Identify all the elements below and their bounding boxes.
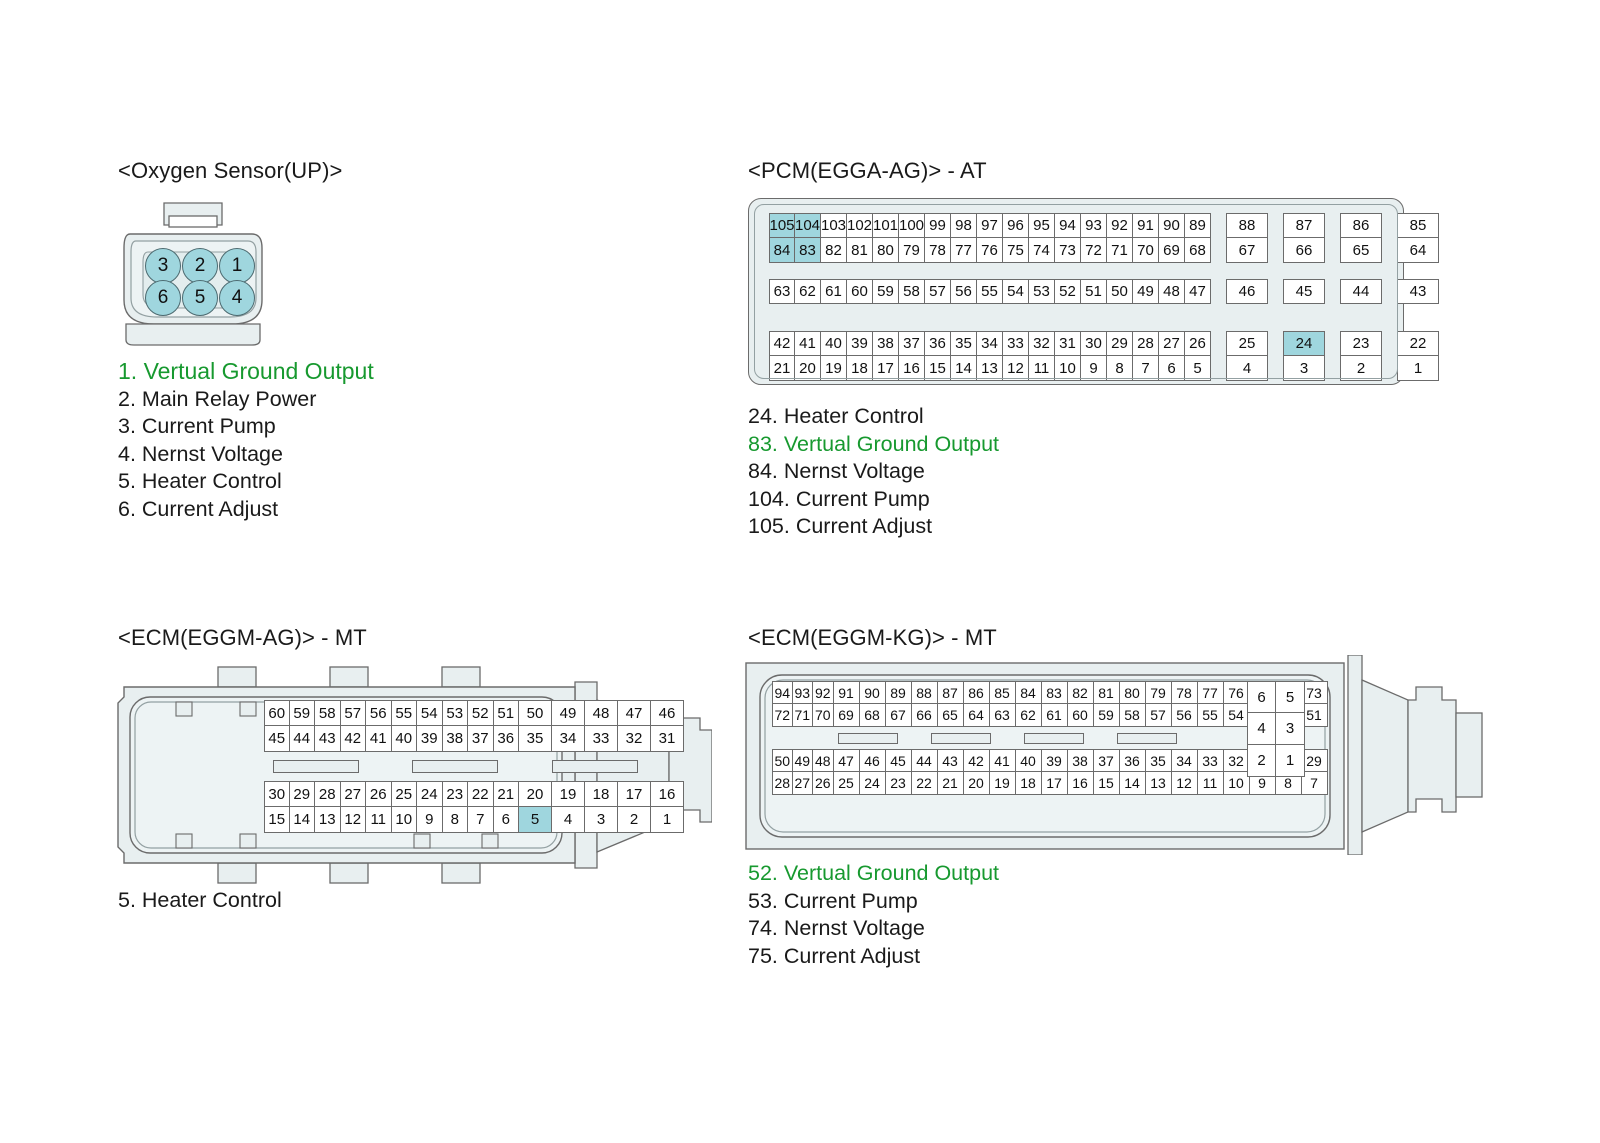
ecm-kg-pin-32[interactable]: 32 xyxy=(1224,749,1250,772)
oxy-pin-2[interactable]: 2 xyxy=(182,248,218,284)
pcm-pin-6[interactable]: 6 xyxy=(1159,356,1185,381)
pin-column: 5237 xyxy=(468,700,494,752)
ecm-kg-pin-83[interactable]: 83 xyxy=(1042,681,1068,704)
pcm-pin-27[interactable]: 27 xyxy=(1159,331,1185,356)
ecm-ag-upper-rows: 6045594458435742564155405439533852375136… xyxy=(264,700,684,752)
ecm-kg-pin-14[interactable]: 14 xyxy=(1120,772,1146,795)
pcm-pin-91[interactable]: 91 xyxy=(1133,213,1159,238)
pcm-pin-11[interactable]: 11 xyxy=(1029,356,1055,381)
pcm-pin-33[interactable]: 33 xyxy=(1003,331,1029,356)
ecm-ag-pin-54[interactable]: 54 xyxy=(417,700,443,726)
ecm-ag-pin-41[interactable]: 41 xyxy=(366,726,392,752)
ecm-ag-pin-26[interactable]: 26 xyxy=(366,781,392,807)
pcm-pin-79[interactable]: 79 xyxy=(899,238,925,263)
legend-row-0: 1. Vertual Ground Output xyxy=(118,358,374,386)
pcm-pin-45[interactable]: 45 xyxy=(1283,279,1325,304)
ecm-kg-pin-79[interactable]: 79 xyxy=(1146,681,1172,704)
pcm-pin-54[interactable]: 54 xyxy=(1003,279,1029,304)
oxy-pin-4[interactable]: 4 xyxy=(219,280,255,316)
pcm-pin-61[interactable]: 61 xyxy=(821,279,847,304)
ecm-kg-pin-11[interactable]: 11 xyxy=(1198,772,1224,795)
pcm-pin-4[interactable]: 4 xyxy=(1226,356,1268,381)
pcm-pin-69[interactable]: 69 xyxy=(1159,238,1185,263)
ecm-ag-pin-15[interactable]: 15 xyxy=(264,807,290,833)
pcm-pin-99[interactable]: 99 xyxy=(925,213,951,238)
ecm-ag-pin-39[interactable]: 39 xyxy=(417,726,443,752)
pcm-pin-80[interactable]: 80 xyxy=(873,238,899,263)
pin-column: 243 xyxy=(1283,331,1325,381)
pcm-pin-104[interactable]: 104 xyxy=(795,213,821,238)
pcm-pin-1[interactable]: 1 xyxy=(1397,356,1439,381)
pcm-pin-19[interactable]: 19 xyxy=(821,356,847,381)
ecm-ag-pin-43[interactable]: 43 xyxy=(315,726,341,752)
pcm-pin-3[interactable]: 3 xyxy=(1283,356,1325,381)
pcm-pin-64[interactable]: 64 xyxy=(1397,238,1439,263)
ecm-kg-pin-84[interactable]: 84 xyxy=(1016,681,1042,704)
ecm-ag-pin-3[interactable]: 3 xyxy=(585,807,618,833)
ecm-ag-pin-22[interactable]: 22 xyxy=(468,781,494,807)
pcm-pin-43[interactable]: 43 xyxy=(1397,279,1439,304)
ecm-kg-pin-88[interactable]: 88 xyxy=(912,681,938,704)
ecm-ag-pin-46[interactable]: 46 xyxy=(651,700,684,726)
pcm-pin-78[interactable]: 78 xyxy=(925,238,951,263)
ecm-kg-pin-62[interactable]: 62 xyxy=(1016,704,1042,727)
ecm-kg-pin-87[interactable]: 87 xyxy=(938,681,964,704)
pcm-pin-53[interactable]: 53 xyxy=(1029,279,1055,304)
ecm-kg-pin-61[interactable]: 61 xyxy=(1042,704,1068,727)
ecm-ag-pin-48[interactable]: 48 xyxy=(585,700,618,726)
ecm-kg-pin-26[interactable]: 26 xyxy=(813,772,834,795)
pcm-pin-65[interactable]: 65 xyxy=(1340,238,1382,263)
ecm-ag-pin-50[interactable]: 50 xyxy=(519,700,552,726)
oxy-pin-3[interactable]: 3 xyxy=(145,248,181,284)
ecm-ag-pin-45[interactable]: 45 xyxy=(264,726,290,752)
ecm-kg-pin-33[interactable]: 33 xyxy=(1198,749,1224,772)
ecm-kg-pin-43[interactable]: 43 xyxy=(938,749,964,772)
pcm-pin-51[interactable]: 51 xyxy=(1081,279,1107,304)
pcm-pin-82[interactable]: 82 xyxy=(821,238,847,263)
pcm-pin-92[interactable]: 92 xyxy=(1107,213,1133,238)
ecm-ag-pin-16[interactable]: 16 xyxy=(651,781,684,807)
ecm-ag-pin-12[interactable]: 12 xyxy=(341,807,367,833)
pin-column: 3413 xyxy=(977,331,1003,381)
pcm-pin-74[interactable]: 74 xyxy=(1029,238,1055,263)
ecm-kg-pin-21[interactable]: 21 xyxy=(938,772,964,795)
ecm-kg-pin-27[interactable]: 27 xyxy=(793,772,814,795)
ecm-ag-pin-1[interactable]: 1 xyxy=(651,807,684,833)
ecm-kg-side-pin-5[interactable]: 5 xyxy=(1276,681,1305,713)
ecm-kg-pin-28[interactable]: 28 xyxy=(772,772,793,795)
ecm-kg-side-pin-2[interactable]: 2 xyxy=(1247,745,1276,777)
pcm-pin-96[interactable]: 96 xyxy=(1003,213,1029,238)
pcm-pin-49[interactable]: 49 xyxy=(1133,279,1159,304)
pcm-pin-68[interactable]: 68 xyxy=(1185,238,1211,263)
pin-column: 10079 xyxy=(899,213,925,263)
pcm-pin-44[interactable]: 44 xyxy=(1340,279,1382,304)
ecm-kg-pin-73[interactable]: 73 xyxy=(1302,681,1328,704)
pcm-pin-88[interactable]: 88 xyxy=(1226,213,1268,238)
ecm-kg-pin-86[interactable]: 86 xyxy=(964,681,990,704)
pcm-pin-32[interactable]: 32 xyxy=(1029,331,1055,356)
ecm-ag-pin-42[interactable]: 42 xyxy=(341,726,367,752)
pin-column: 276 xyxy=(1159,331,1185,381)
pcm-pin-38[interactable]: 38 xyxy=(873,331,899,356)
pcm-pin-42[interactable]: 42 xyxy=(769,331,795,356)
pcm-pin-37[interactable]: 37 xyxy=(899,331,925,356)
pcm-pin-7[interactable]: 7 xyxy=(1133,356,1159,381)
pcm-pin-73[interactable]: 73 xyxy=(1055,238,1081,263)
ecm-kg-pin-12[interactable]: 12 xyxy=(1172,772,1198,795)
pin-column: 8563 xyxy=(990,681,1016,727)
legend-row-1: 53. Current Pump xyxy=(748,888,999,916)
pin-column: 4732 xyxy=(618,700,651,752)
ecm-ag-pin-44[interactable]: 44 xyxy=(290,726,316,752)
ecm-kg-pin-68[interactable]: 68 xyxy=(860,704,886,727)
side-pin-row: 21 xyxy=(1247,745,1305,777)
ecm-kg-pin-66[interactable]: 66 xyxy=(912,704,938,727)
ecm-ag-pin-53[interactable]: 53 xyxy=(443,700,469,726)
ecm-kg-pin-42[interactable]: 42 xyxy=(964,749,990,772)
ecm-kg-pin-71[interactable]: 71 xyxy=(793,704,814,727)
pcm-pin-34[interactable]: 34 xyxy=(977,331,1003,356)
pcm-pin-10[interactable]: 10 xyxy=(1055,356,1081,381)
ecm-ag-pin-29[interactable]: 29 xyxy=(290,781,316,807)
ecm-ag-pin-5[interactable]: 5 xyxy=(519,807,552,833)
ecm-ag-pin-21[interactable]: 21 xyxy=(494,781,520,807)
ecm-ag-pin-19[interactable]: 19 xyxy=(552,781,585,807)
ecm-ag-pin-51[interactable]: 51 xyxy=(494,700,520,726)
pcm-pin-71[interactable]: 71 xyxy=(1107,238,1133,263)
pcm-pin-23[interactable]: 23 xyxy=(1340,331,1382,356)
pcm-pin-102[interactable]: 102 xyxy=(847,213,873,238)
pcm-pin-55[interactable]: 55 xyxy=(977,279,1003,304)
ecm-kg-pin-46[interactable]: 46 xyxy=(860,749,886,772)
ecm-ag-pin-9[interactable]: 9 xyxy=(417,807,443,833)
ecm-kg-pin-39[interactable]: 39 xyxy=(1042,749,1068,772)
ecm-kg-pin-55[interactable]: 55 xyxy=(1198,704,1224,727)
ecm-kg-pin-25[interactable]: 25 xyxy=(834,772,860,795)
pcm-pin-15[interactable]: 15 xyxy=(925,356,951,381)
ecm-kg-pin-10[interactable]: 10 xyxy=(1224,772,1250,795)
ecm-ag-pin-31[interactable]: 31 xyxy=(651,726,684,752)
ecm-kg-pin-82[interactable]: 82 xyxy=(1068,681,1094,704)
ecm-kg-pin-41[interactable]: 41 xyxy=(990,749,1016,772)
ecm-kg-pin-78[interactable]: 78 xyxy=(1172,681,1198,704)
pin-column: 9473 xyxy=(1055,213,1081,263)
pin-column: 52 xyxy=(1055,279,1081,304)
ecm-kg-pin-58[interactable]: 58 xyxy=(1120,704,1146,727)
ecm-kg-pin-17[interactable]: 17 xyxy=(1042,772,1068,795)
pcm-pin-87[interactable]: 87 xyxy=(1283,213,1325,238)
ecm-kg-pin-40[interactable]: 40 xyxy=(1016,749,1042,772)
ecm-kg-side-pin-4[interactable]: 4 xyxy=(1247,713,1276,745)
ecm-ag-pin-20[interactable]: 20 xyxy=(519,781,552,807)
ecm-ag-pin-13[interactable]: 13 xyxy=(315,807,341,833)
ecm-kg-pin-63[interactable]: 63 xyxy=(990,704,1016,727)
pcm-pin-103[interactable]: 103 xyxy=(821,213,847,238)
ecm-kg-pin-24[interactable]: 24 xyxy=(860,772,886,795)
pcm-pin-21[interactable]: 21 xyxy=(769,356,795,381)
pcm-pin-95[interactable]: 95 xyxy=(1029,213,1055,238)
ecm-kg-pin-29[interactable]: 29 xyxy=(1302,749,1328,772)
pin-column: 8260 xyxy=(1068,681,1094,727)
ecm-kg-pin-35[interactable]: 35 xyxy=(1146,749,1172,772)
pcm-pin-20[interactable]: 20 xyxy=(795,356,821,381)
ecm-ag-pin-59[interactable]: 59 xyxy=(290,700,316,726)
pcm-pin-36[interactable]: 36 xyxy=(925,331,951,356)
pcm-pin-16[interactable]: 16 xyxy=(899,356,925,381)
pin-column: 3514 xyxy=(951,331,977,381)
pcm-pin-84[interactable]: 84 xyxy=(769,238,795,263)
pcm-pin-39[interactable]: 39 xyxy=(847,331,873,356)
ecm-ag-pin-23[interactable]: 23 xyxy=(443,781,469,807)
ecm-kg-pin-19[interactable]: 19 xyxy=(990,772,1016,795)
ecm-kg-side-pin-3[interactable]: 3 xyxy=(1276,713,1305,745)
ecm-kg-pin-60[interactable]: 60 xyxy=(1068,704,1094,727)
ecm-ag-pin-8[interactable]: 8 xyxy=(443,807,469,833)
pin-column: 7351 xyxy=(1302,681,1328,727)
ecm-ag-pin-28[interactable]: 28 xyxy=(315,781,341,807)
oxygen-sensor-legend: 1. Vertual Ground Output2. Main Relay Po… xyxy=(118,358,374,523)
pin-column: 4624 xyxy=(860,749,886,795)
ecm-kg-pin-7[interactable]: 7 xyxy=(1302,772,1328,795)
ecm-kg-pin-47[interactable]: 47 xyxy=(834,749,860,772)
pcm-pin-8[interactable]: 8 xyxy=(1107,356,1133,381)
pcm-pin-52[interactable]: 52 xyxy=(1055,279,1081,304)
pcm-pin-59[interactable]: 59 xyxy=(873,279,899,304)
ecm-kg-pin-36[interactable]: 36 xyxy=(1120,749,1146,772)
ecm-ag-pin-10[interactable]: 10 xyxy=(392,807,418,833)
ecm-kg-pin-80[interactable]: 80 xyxy=(1120,681,1146,704)
ecm-kg-pin-65[interactable]: 65 xyxy=(938,704,964,727)
pcm-pin-18[interactable]: 18 xyxy=(847,356,873,381)
pcm-pin-98[interactable]: 98 xyxy=(951,213,977,238)
pcm-pin-40[interactable]: 40 xyxy=(821,331,847,356)
ecm-kg-pin-72[interactable]: 72 xyxy=(772,704,793,727)
pcm-pin-46[interactable]: 46 xyxy=(1226,279,1268,304)
pcm-pin-22[interactable]: 22 xyxy=(1397,331,1439,356)
ecm-kg-panel: <ECM(EGGM-KG)> - MT 94729371927091699068… xyxy=(748,625,1488,970)
ecm-kg-pin-20[interactable]: 20 xyxy=(964,772,990,795)
pin-column: 3817 xyxy=(873,331,899,381)
ecm-ag-pin-36[interactable]: 36 xyxy=(494,726,520,752)
pcm-pin-5[interactable]: 5 xyxy=(1185,356,1211,381)
pcm-pin-77[interactable]: 77 xyxy=(951,238,977,263)
ecm-ag-pin-34[interactable]: 34 xyxy=(552,726,585,752)
ecm-ag-pin-25[interactable]: 25 xyxy=(392,781,418,807)
legend-row-0: 5. Heater Control xyxy=(118,887,282,915)
ecm-kg-pin-48[interactable]: 48 xyxy=(813,749,834,772)
pcm-pin-35[interactable]: 35 xyxy=(951,331,977,356)
pcm-pin-56[interactable]: 56 xyxy=(951,279,977,304)
ecm-kg-side-pin-6[interactable]: 6 xyxy=(1247,681,1276,713)
ecm-ag-pin-24[interactable]: 24 xyxy=(417,781,443,807)
pcm-pin-50[interactable]: 50 xyxy=(1107,279,1133,304)
ecm-kg-pin-45[interactable]: 45 xyxy=(886,749,912,772)
pcm-pin-72[interactable]: 72 xyxy=(1081,238,1107,263)
pin-column: 2510 xyxy=(392,781,418,833)
ecm-ag-pin-49[interactable]: 49 xyxy=(552,700,585,726)
pcm-pin-63[interactable]: 63 xyxy=(769,279,795,304)
legend-row-3: 104. Current Pump xyxy=(748,486,999,514)
ecm-ag-pin-27[interactable]: 27 xyxy=(341,781,367,807)
oxy-pin-6[interactable]: 6 xyxy=(145,280,181,316)
legend-row-2: 84. Nernst Voltage xyxy=(748,458,999,486)
ecm-ag-pin-47[interactable]: 47 xyxy=(618,700,651,726)
pcm-pin-86[interactable]: 86 xyxy=(1340,213,1382,238)
pin-column: 9978 xyxy=(925,213,951,263)
pcm-pin-67[interactable]: 67 xyxy=(1226,238,1268,263)
legend-row-4: 5. Heater Control xyxy=(118,468,374,496)
ecm-ag-pin-11[interactable]: 11 xyxy=(366,807,392,833)
pin-column: 54 xyxy=(1003,279,1029,304)
ecm-kg-side-pin-1[interactable]: 1 xyxy=(1276,745,1305,777)
pcm-column-gap xyxy=(1382,213,1397,263)
ecm-ag-pin-38[interactable]: 38 xyxy=(443,726,469,752)
ecm-kg-pin-18[interactable]: 18 xyxy=(1016,772,1042,795)
ecm-kg-pin-56[interactable]: 56 xyxy=(1172,704,1198,727)
pin-column: 8866 xyxy=(912,681,938,727)
pcm-pin-76[interactable]: 76 xyxy=(977,238,1003,263)
ecm-ag-pin-55[interactable]: 55 xyxy=(392,700,418,726)
pcm-pin-75[interactable]: 75 xyxy=(1003,238,1029,263)
pcm-pin-90[interactable]: 90 xyxy=(1159,213,1185,238)
ecm-kg-pin-22[interactable]: 22 xyxy=(912,772,938,795)
ecm-ag-pin-18[interactable]: 18 xyxy=(585,781,618,807)
pin-column: 60 xyxy=(847,279,873,304)
ecm-kg-pin-49[interactable]: 49 xyxy=(793,749,814,772)
ecm-ag-pin-17[interactable]: 17 xyxy=(618,781,651,807)
pcm-pin-57[interactable]: 57 xyxy=(925,279,951,304)
ecm-kg-pin-16[interactable]: 16 xyxy=(1068,772,1094,795)
ecm-ag-pin-2[interactable]: 2 xyxy=(618,807,651,833)
pcm-pin-17[interactable]: 17 xyxy=(873,356,899,381)
ecm-kg-pin-76[interactable]: 76 xyxy=(1224,681,1250,704)
ecm-kg-pin-69[interactable]: 69 xyxy=(834,704,860,727)
pcm-pin-47[interactable]: 47 xyxy=(1185,279,1211,304)
pin-column: 9574 xyxy=(1029,213,1055,263)
pcm-pin-24[interactable]: 24 xyxy=(1283,331,1325,356)
pin-column: 5338 xyxy=(443,700,469,752)
pcm-pin-12[interactable]: 12 xyxy=(1003,356,1029,381)
ecm-ag-pin-14[interactable]: 14 xyxy=(290,807,316,833)
legend-row-4: 105. Current Adjust xyxy=(748,513,999,541)
pcm-pin-13[interactable]: 13 xyxy=(977,356,1003,381)
pcm-pin-70[interactable]: 70 xyxy=(1133,238,1159,263)
oxy-pin-5[interactable]: 5 xyxy=(182,280,218,316)
pin-column: 9371 xyxy=(793,681,814,727)
pcm-pin-97[interactable]: 97 xyxy=(977,213,1003,238)
ecm-ag-pin-30[interactable]: 30 xyxy=(264,781,290,807)
ecm-ag-pin-40[interactable]: 40 xyxy=(392,726,418,752)
pcm-group-top: 1058410483103821028110180100799978987797… xyxy=(769,213,1439,263)
ecm-kg-pin-81[interactable]: 81 xyxy=(1094,681,1120,704)
pin-column: 216 xyxy=(494,781,520,833)
ecm-ag-lower-rows: 3015291428132712261125102492382272162051… xyxy=(264,781,684,833)
ecm-ag-pin-57[interactable]: 57 xyxy=(341,700,367,726)
pin-column: 4523 xyxy=(886,749,912,795)
ecm-ag-pin-4[interactable]: 4 xyxy=(552,807,585,833)
pcm-pin-48[interactable]: 48 xyxy=(1159,279,1185,304)
ecm-kg-pin-23[interactable]: 23 xyxy=(886,772,912,795)
pcm-pin-93[interactable]: 93 xyxy=(1081,213,1107,238)
ecm-kg-pin-13[interactable]: 13 xyxy=(1146,772,1172,795)
ecm-kg-pin-92[interactable]: 92 xyxy=(813,681,834,704)
ecm-ag-pin-32[interactable]: 32 xyxy=(618,726,651,752)
pcm-pin-89[interactable]: 89 xyxy=(1185,213,1211,238)
ecm-kg-pin-57[interactable]: 57 xyxy=(1146,704,1172,727)
ecm-ag-pin-37[interactable]: 37 xyxy=(468,726,494,752)
ecm-ag-pin-52[interactable]: 52 xyxy=(468,700,494,726)
ecm-kg-pin-91[interactable]: 91 xyxy=(834,681,860,704)
pcm-pin-31[interactable]: 31 xyxy=(1055,331,1081,356)
ecm-kg-pin-90[interactable]: 90 xyxy=(860,681,886,704)
pcm-pin-58[interactable]: 58 xyxy=(899,279,925,304)
ecm-kg-pin-50[interactable]: 50 xyxy=(772,749,793,772)
pcm-pin-25[interactable]: 25 xyxy=(1226,331,1268,356)
ecm-kg-pin-34[interactable]: 34 xyxy=(1172,749,1198,772)
ecm-kg-pin-51[interactable]: 51 xyxy=(1302,704,1328,727)
ecm-ag-separator-bars xyxy=(264,752,684,781)
pin-column: 5742 xyxy=(341,700,367,752)
pin-column: 5439 xyxy=(417,700,443,752)
pcm-pin-2[interactable]: 2 xyxy=(1340,356,1382,381)
ecm-kg-pin-70[interactable]: 70 xyxy=(813,704,834,727)
ecm-kg-pin-37[interactable]: 37 xyxy=(1094,749,1120,772)
ecm-kg-pin-59[interactable]: 59 xyxy=(1094,704,1120,727)
pcm-pin-14[interactable]: 14 xyxy=(951,356,977,381)
pcm-pin-28[interactable]: 28 xyxy=(1133,331,1159,356)
pcm-pin-100[interactable]: 100 xyxy=(899,213,925,238)
ecm-ag-pin-58[interactable]: 58 xyxy=(315,700,341,726)
ecm-ag-pin-35[interactable]: 35 xyxy=(519,726,552,752)
oxy-pin-1[interactable]: 1 xyxy=(219,248,255,284)
ecm-kg-pin-54[interactable]: 54 xyxy=(1224,704,1250,727)
pcm-pin-66[interactable]: 66 xyxy=(1283,238,1325,263)
ecm-ag-pin-60[interactable]: 60 xyxy=(264,700,290,726)
ecm-kg-pin-94[interactable]: 94 xyxy=(772,681,793,704)
legend-row-3: 75. Current Adjust xyxy=(748,943,999,971)
pcm-pin-81[interactable]: 81 xyxy=(847,238,873,263)
pcm-pin-30[interactable]: 30 xyxy=(1081,331,1107,356)
pcm-pin-94[interactable]: 94 xyxy=(1055,213,1081,238)
pcm-pin-29[interactable]: 29 xyxy=(1107,331,1133,356)
ecm-kg-pin-15[interactable]: 15 xyxy=(1094,772,1120,795)
pcm-pin-62[interactable]: 62 xyxy=(795,279,821,304)
ecm-kg-pin-38[interactable]: 38 xyxy=(1068,749,1094,772)
ecm-ag-pin-56[interactable]: 56 xyxy=(366,700,392,726)
ecm-kg-pin-67[interactable]: 67 xyxy=(886,704,912,727)
pcm-pin-101[interactable]: 101 xyxy=(873,213,899,238)
pin-column: 5944 xyxy=(290,700,316,752)
pcm-pin-83[interactable]: 83 xyxy=(795,238,821,263)
pcm-pin-41[interactable]: 41 xyxy=(795,331,821,356)
ecm-kg-pin-93[interactable]: 93 xyxy=(793,681,814,704)
ecm-kg-pin-44[interactable]: 44 xyxy=(912,749,938,772)
pcm-pin-9[interactable]: 9 xyxy=(1081,356,1107,381)
ecm-kg-pin-85[interactable]: 85 xyxy=(990,681,1016,704)
ecm-ag-pin-6[interactable]: 6 xyxy=(494,807,520,833)
ecm-kg-pin-64[interactable]: 64 xyxy=(964,704,990,727)
ecm-ag-pin-33[interactable]: 33 xyxy=(585,726,618,752)
pcm-pin-26[interactable]: 26 xyxy=(1185,331,1211,356)
ecm-kg-pin-77[interactable]: 77 xyxy=(1198,681,1224,704)
ecm-kg-pin-89[interactable]: 89 xyxy=(886,681,912,704)
pcm-pin-85[interactable]: 85 xyxy=(1397,213,1439,238)
ecm-ag-pin-7[interactable]: 7 xyxy=(468,807,494,833)
pcm-pin-60[interactable]: 60 xyxy=(847,279,873,304)
pcm-pin-105[interactable]: 105 xyxy=(769,213,795,238)
